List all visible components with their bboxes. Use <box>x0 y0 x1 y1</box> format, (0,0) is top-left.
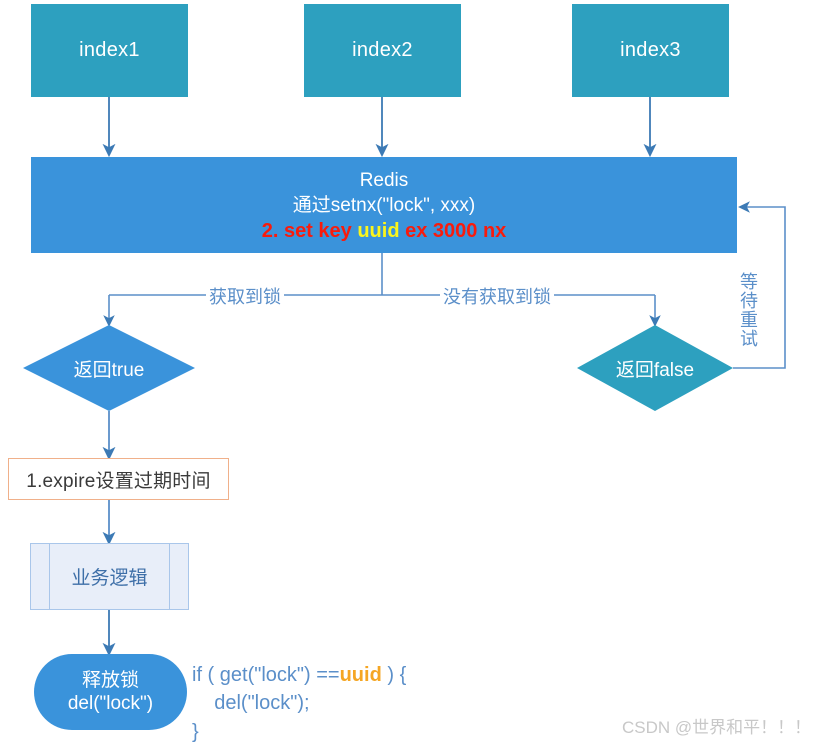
business-logic-label: 业务逻辑 <box>71 563 147 590</box>
edge-label-acquired: 获取到锁 <box>206 283 284 309</box>
connector-layer <box>0 0 836 745</box>
redis-setnx-line: 通过setnx("lock", xxx) <box>293 194 475 219</box>
expire-label: 1.expire设置过期时间 <box>26 466 210 493</box>
code-line-2: del("lock"); <box>192 689 406 717</box>
index1-label: index1 <box>79 39 140 62</box>
code-line-1-suffix: ) { <box>382 664 406 686</box>
node-index2[interactable]: index2 <box>304 4 461 97</box>
shape-return-false-diamond <box>577 325 733 411</box>
node-release-lock[interactable]: 释放锁 del("lock") <box>34 654 187 730</box>
release-lock-command: del("lock") <box>68 692 153 715</box>
redis-set-uuid: uuid <box>357 220 399 242</box>
code-line-1-uuid: uuid <box>340 664 382 686</box>
redis-set-command-line: 2. set key uuid ex 3000 nx <box>262 218 507 244</box>
release-lock-title: 释放锁 <box>82 669 139 692</box>
index2-label: index2 <box>352 39 413 62</box>
edge-label-retry: 等待重试 <box>735 269 761 351</box>
node-business-logic[interactable]: 业务逻辑 <box>30 543 189 610</box>
redis-set-prefix: 2. set key <box>262 220 358 242</box>
subroutine-rail-left-icon <box>49 544 50 609</box>
node-index3[interactable]: index3 <box>572 4 729 97</box>
edge-label-not-acquired: 没有获取到锁 <box>440 283 554 309</box>
watermark: CSDN @世界和平！！！ <box>622 713 811 738</box>
redis-title: Redis <box>360 169 409 194</box>
node-redis[interactable]: Redis 通过setnx("lock", xxx) 2. set key uu… <box>31 157 737 253</box>
diagram-canvas: index1 index2 index3 Redis 通过setnx("lock… <box>0 0 836 745</box>
index3-label: index3 <box>620 39 681 62</box>
subroutine-rail-right-icon <box>169 544 170 609</box>
code-line-3: } <box>192 718 406 745</box>
code-snippet: if ( get("lock") ==uuid ) { del("lock");… <box>192 661 406 745</box>
node-expire[interactable]: 1.expire设置过期时间 <box>8 458 229 500</box>
redis-set-suffix: ex 3000 nx <box>400 220 507 242</box>
shape-return-true-diamond <box>23 325 195 411</box>
node-index1[interactable]: index1 <box>31 4 188 97</box>
code-line-1: if ( get("lock") ==uuid ) { <box>192 661 406 689</box>
code-line-1-prefix: if ( get("lock") == <box>192 664 340 686</box>
